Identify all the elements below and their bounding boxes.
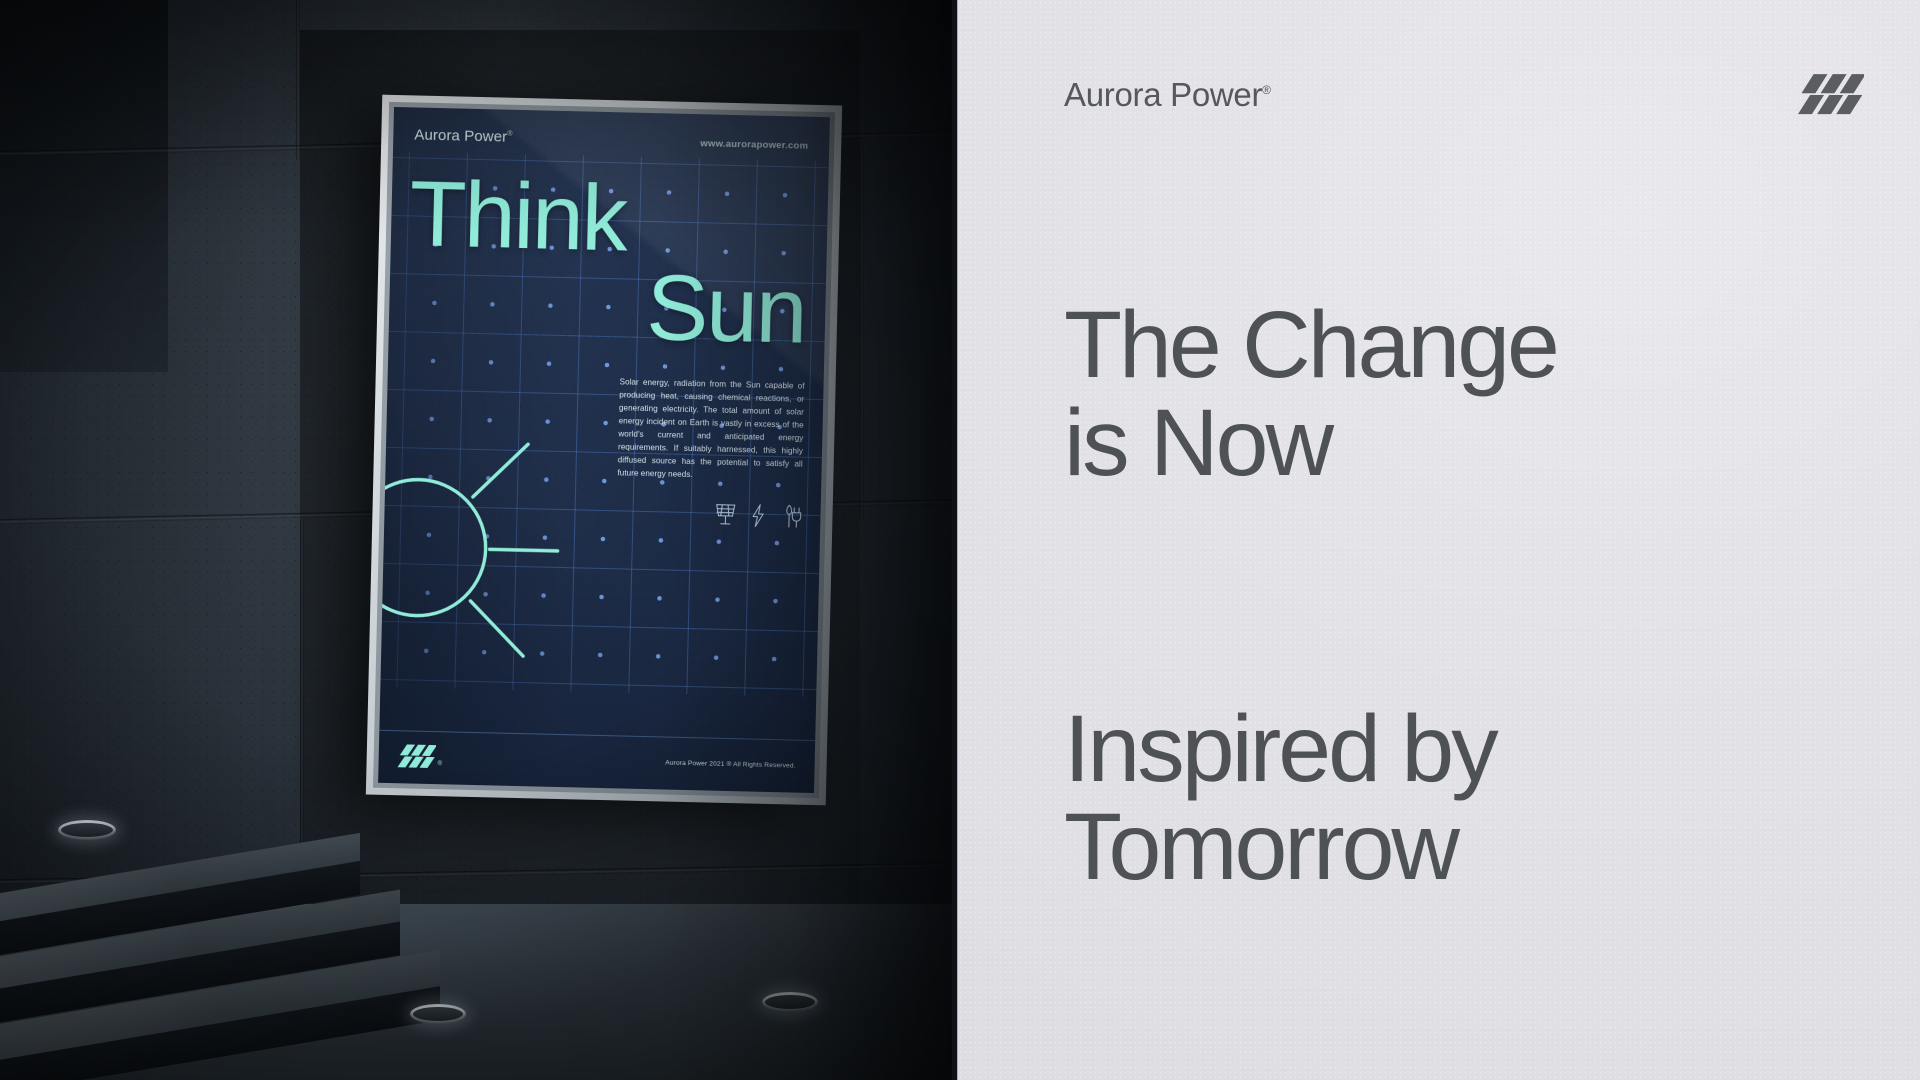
headline-secondary: Inspired by Tomorrow	[1064, 700, 1880, 897]
billboard-mockup-presentation: Aurora Power® www.aurorapower.com Think …	[0, 0, 1920, 1080]
headline-primary: The Change is Now	[1064, 296, 1880, 493]
panel-texture	[958, 0, 1920, 1080]
panel-header: Aurora Power®	[1064, 74, 1864, 116]
headline-two-line-2: Tomorrow	[1064, 798, 1880, 896]
brand-wordmark: Aurora Power®	[1064, 76, 1271, 114]
billboard-photograph: Aurora Power® www.aurorapower.com Think …	[0, 0, 958, 1080]
brand-typography-panel: Aurora Power® The Change is Now	[958, 0, 1920, 1080]
headline-one-line-2: is Now	[1064, 394, 1880, 492]
brand-name-text: Aurora Power	[1064, 76, 1262, 113]
headline-two-line-1: Inspired by	[1064, 700, 1880, 798]
photo-vignette	[0, 0, 958, 1080]
aurora-power-logo	[1798, 74, 1864, 116]
brand-superscript: ®	[1262, 83, 1271, 97]
headline-one-line-1: The Change	[1064, 296, 1880, 394]
